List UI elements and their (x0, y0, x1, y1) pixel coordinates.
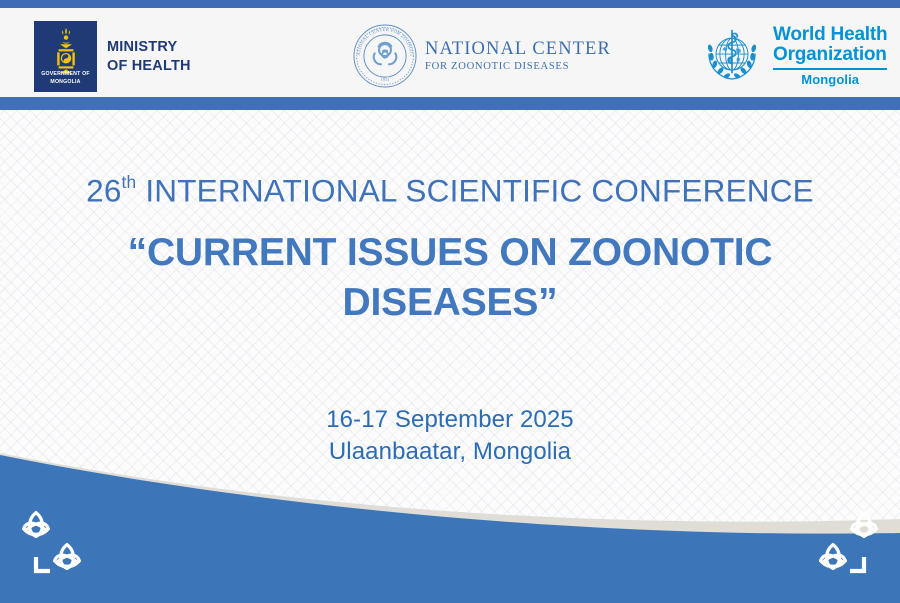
who-country: Mongolia (773, 72, 887, 87)
who-line2: Organization (773, 45, 887, 65)
national-center-name: NATIONAL CENTER FOR ZOONOTIC DISEASES (425, 39, 611, 73)
footer-wave-decoration (0, 453, 900, 603)
zoonotic-seal-icon: NATIONAL CENTER FOR ZOONOTIC (352, 23, 418, 89)
header-separator-bar (0, 97, 900, 110)
crest-caption-line2: MONGOLIA (34, 79, 97, 87)
crest-caption: GOVERNMENT OF MONGOLIA (34, 71, 97, 86)
national-center-logo: NATIONAL CENTER FOR ZOONOTIC (352, 23, 611, 89)
national-center-line1: NATIONAL CENTER (425, 39, 611, 59)
national-center-line2: FOR ZOONOTIC DISEASES (425, 61, 611, 73)
crest-caption-line1: GOVERNMENT OF (34, 71, 97, 79)
conference-number: 26 (86, 173, 121, 209)
who-wordmark: World Health Organization Mongolia (773, 25, 887, 87)
conference-theme-line2: DISEASES” (0, 278, 900, 328)
seal-year: 1931 (380, 77, 390, 82)
who-line1: World Health (773, 25, 887, 45)
conference-label: INTERNATIONAL SCIENTIFIC CONFERENCE (145, 173, 814, 209)
ministry-of-health-logo: GOVERNMENT OF MONGOLIA MINISTRY OF HEALT… (34, 21, 191, 92)
conference-theme: “CURRENT ISSUES ON ZOONOTIC DISEASES” (0, 228, 900, 328)
conference-theme-line1: “CURRENT ISSUES ON ZOONOTIC (0, 228, 900, 278)
mongolian-knot-ornament-left (12, 505, 98, 585)
ministry-name-line2: OF HEALTH (107, 57, 191, 76)
conference-heading: 26th INTERNATIONAL SCIENTIFIC CONFERENCE (0, 172, 900, 210)
event-date: 16-17 September 2025 (0, 404, 900, 436)
who-emblem-icon (700, 24, 764, 88)
title-block: 26th INTERNATIONAL SCIENTIFIC CONFERENCE… (0, 110, 900, 468)
ministry-name-line1: MINISTRY (107, 38, 191, 57)
logo-row: GOVERNMENT OF MONGOLIA MINISTRY OF HEALT… (0, 8, 900, 97)
mongolian-knot-ornament-right (802, 505, 888, 585)
conference-ordinal: th (122, 172, 137, 192)
who-logo: World Health Organization Mongolia (700, 24, 887, 88)
ministry-of-health-name: MINISTRY OF HEALTH (107, 38, 191, 76)
soyombo-icon (49, 27, 83, 75)
who-divider (773, 68, 887, 70)
mongolia-government-crest: GOVERNMENT OF MONGOLIA (34, 21, 97, 92)
conference-title-slide: GOVERNMENT OF MONGOLIA MINISTRY OF HEALT… (0, 0, 900, 603)
top-accent-bar (0, 0, 900, 8)
